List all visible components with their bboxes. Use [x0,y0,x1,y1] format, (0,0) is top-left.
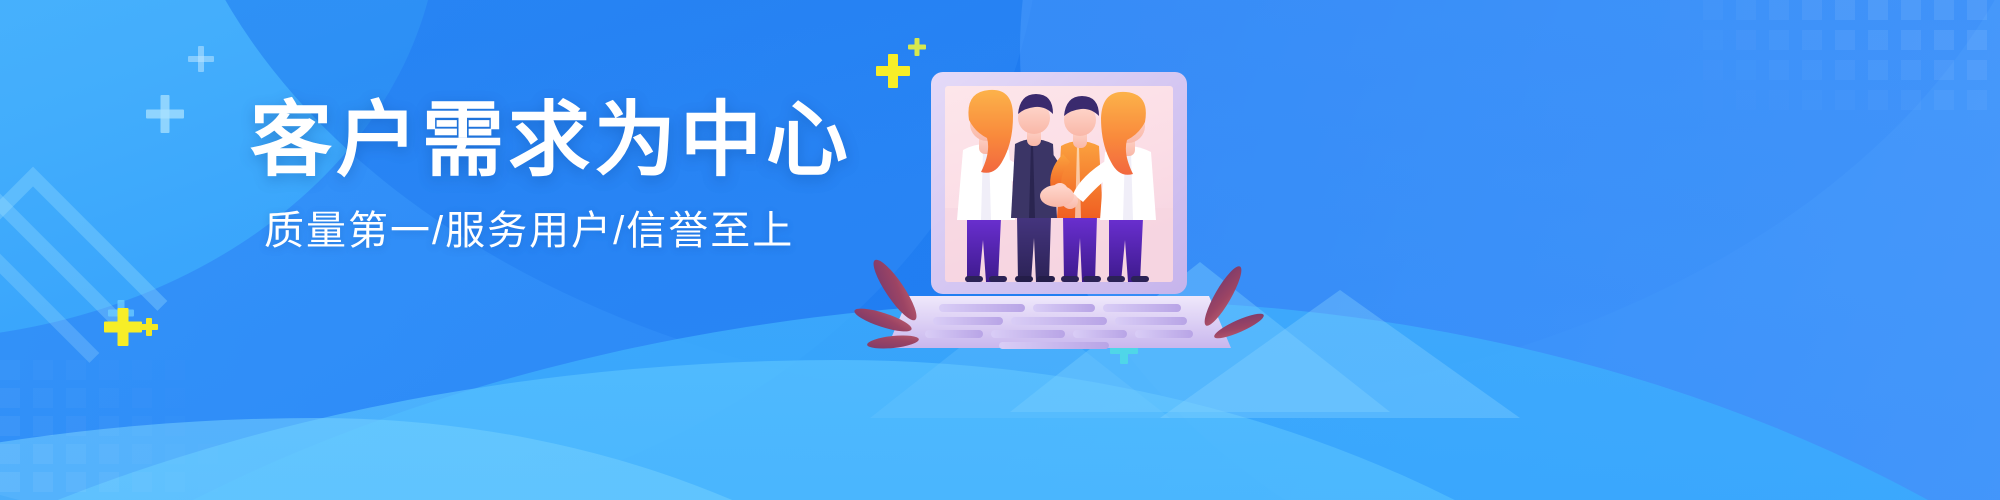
laptop-illustration [905,58,1305,358]
promo-banner: 客户需求为中心 质量第一/服务用户/信誉至上 [0,0,2000,500]
plus-yellow-bottom-left-small-icon [140,318,158,336]
chevron-stripe-2 [0,193,133,462]
joined-hands [1040,185,1074,207]
plus-light-top-small-icon [188,46,214,72]
bg-wave-bottom-3 [0,418,1200,500]
bg-wave-bottom-2 [0,360,1940,500]
chevron-stripe-3 [0,219,99,488]
laptop-base [887,296,1231,349]
plus-yellow-top-right-small-icon [908,38,926,56]
plus-light-top-big-icon [146,95,184,133]
banner-copy: 客户需求为中心 质量第一/服务用户/信誉至上 [250,98,870,255]
plus-cyan-bottom-left-icon [108,300,134,326]
dot-grid-top-right-icon [1670,0,2000,120]
banner-subline: 质量第一/服务用户/信誉至上 [264,207,870,255]
banner-headline: 客户需求为中心 [250,98,870,183]
plus-yellow-bottom-left-icon [104,308,142,346]
chevron-stripe-1 [0,167,167,436]
dot-grid-bottom-left-icon [0,360,300,500]
